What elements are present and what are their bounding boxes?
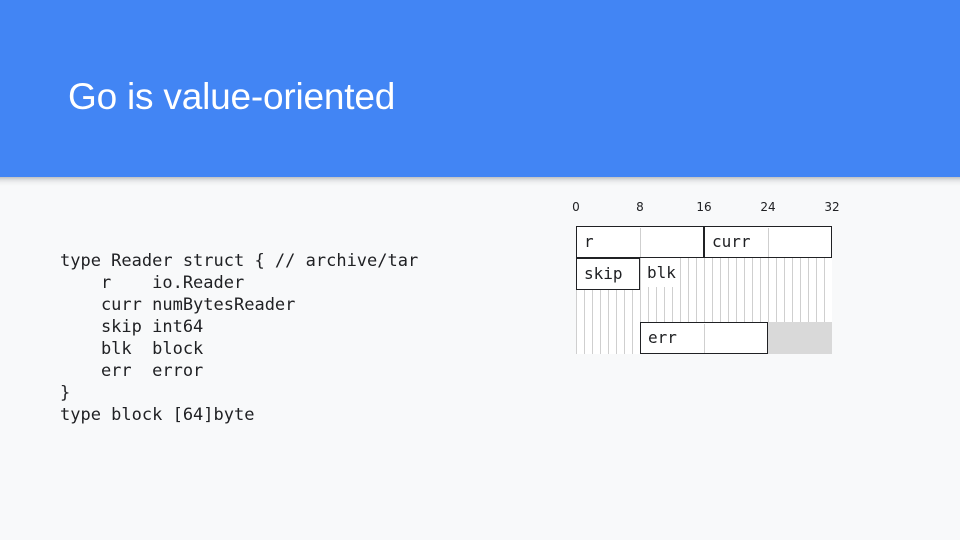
ruler-tick-8: 8 — [636, 200, 644, 214]
memory-cell-curr: curr — [704, 226, 832, 258]
ruler-tick-24: 24 — [760, 200, 775, 214]
memory-cell-padding — [768, 322, 832, 354]
memory-word-divider — [640, 228, 641, 257]
memory-word-divider — [704, 324, 705, 353]
ruler-tick-0: 0 — [572, 200, 580, 214]
memory-row-0: rcurr — [576, 226, 832, 258]
memory-cell-err: err — [640, 322, 768, 354]
memory-grid: rcurrskipblkerr — [576, 226, 832, 354]
byte-offset-ruler: 08162432 — [576, 200, 832, 220]
memory-cell-blk-continued-row2 — [576, 290, 832, 322]
ruler-tick-16: 16 — [696, 200, 711, 214]
memory-cell-label-err: err — [648, 323, 677, 352]
memory-layout-diagram: 08162432 rcurrskipblkerr — [576, 200, 832, 354]
memory-cell-label-blk: blk — [647, 258, 679, 287]
memory-word-divider — [768, 228, 769, 257]
header-shadow — [0, 177, 960, 186]
memory-cell-blk: blk — [640, 258, 832, 290]
memory-cell-label-curr: curr — [712, 227, 751, 256]
code-block: type Reader struct { // archive/tar r io… — [60, 250, 418, 426]
slide: Go is value-oriented type Reader struct … — [0, 0, 960, 540]
memory-row-3: err — [576, 322, 832, 354]
memory-row-2 — [576, 290, 832, 322]
memory-cell-label-skip: skip — [584, 259, 623, 288]
memory-cell-r: r — [576, 226, 704, 258]
memory-cell-skip: skip — [576, 258, 640, 290]
page-title: Go is value-oriented — [68, 74, 395, 120]
ruler-tick-32: 32 — [824, 200, 839, 214]
memory-cell-blk-continued-row3 — [576, 322, 640, 354]
memory-cell-label-r: r — [584, 227, 594, 256]
memory-row-1: skipblk — [576, 258, 832, 290]
